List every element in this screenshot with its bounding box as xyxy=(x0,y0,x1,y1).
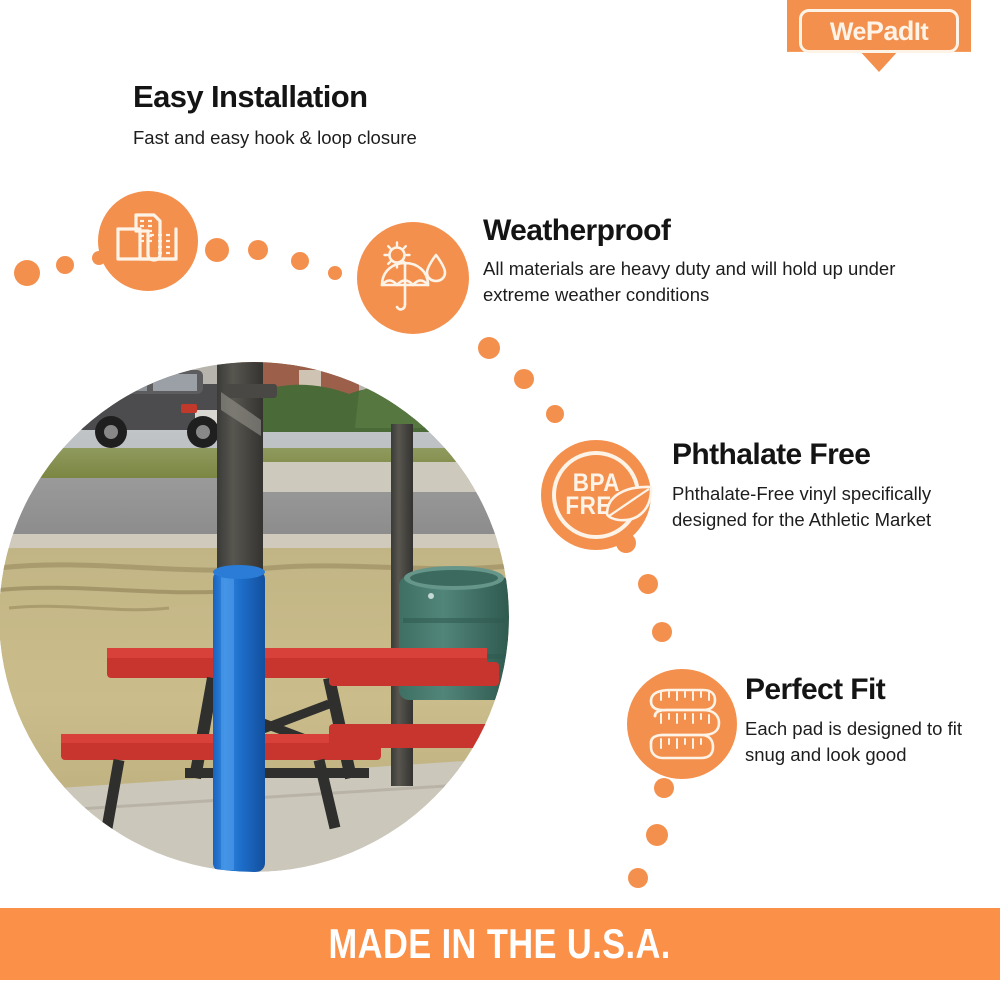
path-dot xyxy=(328,266,342,280)
leaf-icon xyxy=(603,484,655,524)
logo-border-frame: WePadIt xyxy=(799,9,959,53)
path-dot xyxy=(546,405,564,423)
logo-text-it: It xyxy=(914,18,928,46)
path-dot xyxy=(654,778,674,798)
infographic-page: WePadIt Easy Installation Fast and easy … xyxy=(0,0,1000,987)
path-dot xyxy=(628,868,648,888)
path-dot xyxy=(514,369,534,389)
feature-title-perfect-fit: Perfect Fit xyxy=(745,673,885,706)
logo-text: WePadIt xyxy=(830,18,928,45)
made-in-usa-banner: MADE IN THE U.S.A. xyxy=(0,908,1000,980)
feature-description-easy-installation: Fast and easy hook & loop closure xyxy=(133,125,593,151)
made-in-usa-text: MADE IN THE U.S.A. xyxy=(329,920,671,968)
logo-text-we: We xyxy=(830,18,866,46)
feature-title-phthalate-free: Phthalate Free xyxy=(672,438,870,471)
feature-description-perfect-fit: Each pad is designed to fit snug and loo… xyxy=(745,716,980,769)
path-dot xyxy=(205,238,229,262)
path-dot xyxy=(646,824,668,846)
path-dot xyxy=(652,622,672,642)
tape-measure-icon xyxy=(627,669,737,779)
feature-description-weatherproof: All materials are heavy duty and will ho… xyxy=(483,256,913,309)
path-dot xyxy=(56,256,74,274)
path-dot xyxy=(14,260,40,286)
feature-title-easy-installation: Easy Installation xyxy=(133,80,367,114)
feature-title-weatherproof: Weatherproof xyxy=(483,214,670,247)
sun-umbrella-raindrop-icon xyxy=(357,222,469,334)
building-install-icon xyxy=(98,191,198,291)
product-photo-pole-pad xyxy=(0,362,509,872)
path-dot xyxy=(248,240,268,260)
path-dot xyxy=(291,252,309,270)
logo-text-pad: Pad xyxy=(866,16,914,46)
path-dot xyxy=(478,337,500,359)
path-dot xyxy=(638,574,658,594)
path-dot xyxy=(616,533,636,553)
feature-description-phthalate-free: Phthalate-Free vinyl specifically design… xyxy=(672,481,942,534)
bpa-free-leaf-icon: BPA FREE xyxy=(541,440,651,550)
path-dot xyxy=(92,251,106,265)
brand-logo[interactable]: WePadIt xyxy=(787,0,971,72)
